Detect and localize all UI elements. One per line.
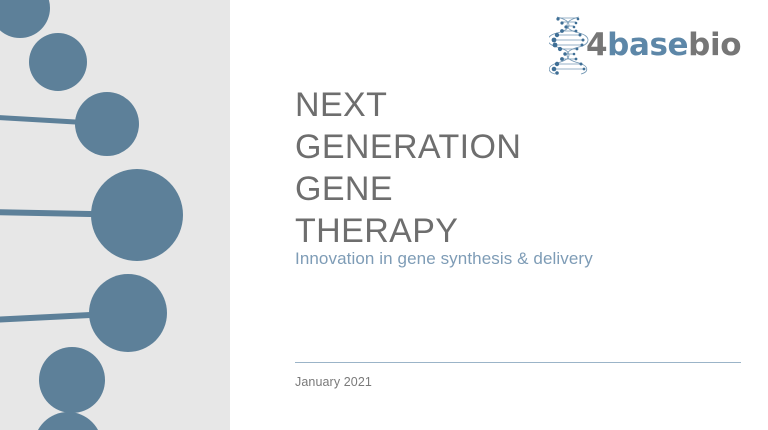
decor-circle [89, 274, 167, 352]
decor-circle [29, 33, 87, 91]
title-line-3: GENE [295, 168, 745, 210]
page-subtitle: Innovation in gene synthesis & delivery [295, 249, 745, 269]
logo-wordmark-part3: bio [688, 27, 741, 63]
decor-circle [0, 0, 50, 38]
title-line-2: GENERATION [295, 126, 745, 168]
decorative-side-panel [0, 0, 230, 430]
logo-wordmark-part1: 4 [586, 27, 607, 63]
footer-divider [295, 362, 741, 363]
decor-circle [75, 92, 139, 156]
logo-wordmark: 4basebio [586, 30, 741, 61]
logo-wordmark-part2: base [607, 27, 688, 63]
company-logo: 4basebio [549, 14, 744, 76]
decor-circle [34, 412, 102, 430]
title-line-1: NEXT [295, 84, 745, 126]
decor-circle [91, 169, 183, 261]
decor-circle [39, 347, 105, 413]
slide-date: January 2021 [295, 375, 372, 389]
circles-pattern-graphic [0, 0, 230, 430]
dna-helix-icon [549, 15, 591, 75]
title-line-4: THERAPY [295, 210, 745, 252]
page-title: NEXT GENERATION GENE THERAPY [295, 84, 745, 252]
presentation-slide: 4basebio NEXT GENERATION GENE THERAPY In… [0, 0, 768, 430]
